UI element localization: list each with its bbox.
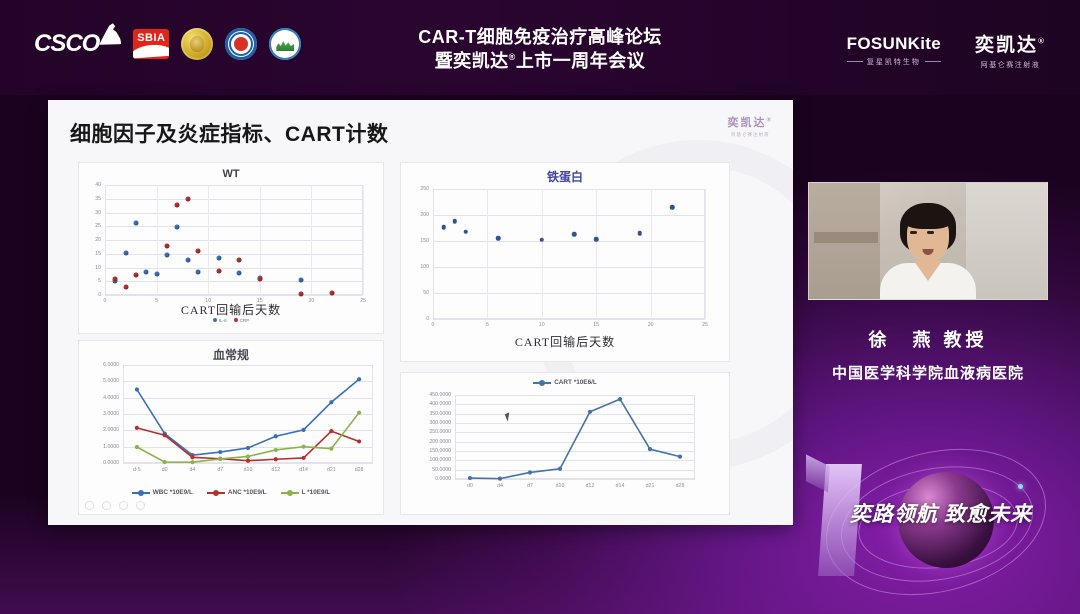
fosunkite-logo-main: FOSUNKite xyxy=(847,34,941,54)
x-category-label: d28 xyxy=(347,467,371,473)
scatter-point-crp xyxy=(123,285,128,290)
chart-wt-legend: IL-6CRP xyxy=(79,318,383,323)
line-marker xyxy=(301,456,305,460)
line-marker xyxy=(357,439,361,443)
line-marker xyxy=(678,455,682,459)
chart-ferritin-title: 铁蛋白 xyxy=(401,163,729,185)
line-marker xyxy=(468,476,472,480)
line-marker xyxy=(528,470,532,474)
sbia-logo: SBIA xyxy=(133,29,169,59)
y-tick-label: 0 xyxy=(79,292,101,298)
line-marker xyxy=(357,377,361,381)
y-tick-label: 300.0000 xyxy=(401,420,451,426)
y-tick-label: 100 xyxy=(401,264,429,270)
speaker-avatar xyxy=(880,199,976,299)
y-tick-label: 0 xyxy=(401,316,429,322)
x-category-label: d4 xyxy=(180,467,204,473)
zoom-tool-icon[interactable] xyxy=(136,501,145,510)
y-tick-label: 250 xyxy=(401,186,429,192)
scatter-point-il6 xyxy=(175,224,180,229)
green-circle-logo xyxy=(269,28,301,60)
line-marker xyxy=(329,429,333,433)
chart-cbc-plot xyxy=(123,365,373,463)
slide-watermark-main-text: 奕凯达 xyxy=(728,117,767,129)
scatter-point-ferritin xyxy=(496,236,501,241)
legend-line-icon xyxy=(533,382,551,384)
slide-watermark-sub: 阿基仑赛注射液 xyxy=(728,132,773,138)
chart-cbc-title: 血常规 xyxy=(79,341,383,363)
x-category-label: d14 xyxy=(292,467,316,473)
x-category-label: d21 xyxy=(319,467,343,473)
y-tick-label: 1.0000 xyxy=(79,444,119,450)
chart-cbc-panel[interactable]: 血常规 0.00001.00002.00003.00004.00005.0000… xyxy=(78,340,384,515)
settings-tool-icon[interactable] xyxy=(119,501,128,510)
legend-item: IL-6 xyxy=(213,318,227,323)
line-marker xyxy=(301,445,305,449)
x-category-label: d14 xyxy=(608,483,632,489)
scatter-point-crp xyxy=(237,258,242,263)
x-category-label: d12 xyxy=(578,483,602,489)
line-marker xyxy=(246,459,250,463)
line-marker xyxy=(218,450,222,454)
line-marker xyxy=(163,433,167,437)
x-category-label: d0 xyxy=(153,467,177,473)
line-marker xyxy=(274,448,278,452)
scatter-point-ferritin xyxy=(572,232,577,237)
line-marker xyxy=(498,477,502,481)
x-category-label: d12 xyxy=(264,467,288,473)
sponsor-logo-row: CSCO SBIA xyxy=(34,28,301,60)
chart-wt-panel[interactable]: WT 0510152025303540 0510152025 CART回输后天数… xyxy=(78,162,384,334)
x-category-label: d7 xyxy=(518,483,542,489)
scatter-point-ferritin xyxy=(453,219,458,224)
line-marker xyxy=(558,467,562,471)
chart-cbc-legend: WBC *10E9/LANC *10E9/LL *10E9/L xyxy=(79,489,383,496)
scatter-point-crp xyxy=(185,196,190,201)
y-tick-label: 25 xyxy=(79,223,101,229)
x-category-label: d0 xyxy=(458,483,482,489)
scatter-point-crp xyxy=(330,291,335,296)
legend-item: CRP xyxy=(234,318,250,323)
legend-marker-icon xyxy=(234,318,238,322)
legend-line-icon xyxy=(281,492,299,494)
y-tick-label: 0.0000 xyxy=(401,476,451,482)
video-background-right xyxy=(966,183,1047,299)
sbia-logo-text: SBIA xyxy=(133,32,169,44)
blue-circle-logo xyxy=(225,28,257,60)
line-marker xyxy=(135,426,139,430)
slide-watermark-main: 奕凯达® xyxy=(728,114,773,130)
chart-wt-xlabel: CART回输后天数 xyxy=(79,301,383,318)
speaker-organization: 中国医学科学院血液病医院 xyxy=(808,362,1048,383)
line-series xyxy=(137,379,359,455)
y-tick-label: 200.0000 xyxy=(401,439,451,445)
legend-item: CART *10E6/L xyxy=(533,379,597,386)
line-marker xyxy=(274,457,278,461)
y-tick-label: 400.0000 xyxy=(401,401,451,407)
slide-annotation-toolbar[interactable] xyxy=(85,501,145,510)
line-marker xyxy=(648,447,652,451)
y-tick-label: 150.0000 xyxy=(401,448,451,454)
x-tick-label: 10 xyxy=(537,322,547,328)
x-tick-label: 0 xyxy=(428,322,438,328)
y-tick-label: 30 xyxy=(79,210,101,216)
slide-canvas: 细胞因子及炎症指标、CART计数 奕凯达® 阿基仑赛注射液 WT 0510152… xyxy=(48,100,793,525)
slide-watermark-logo: 奕凯达® 阿基仑赛注射液 xyxy=(728,114,773,138)
line-marker xyxy=(190,460,194,464)
scatter-point-il6 xyxy=(133,220,138,225)
csco-logo: CSCO xyxy=(34,30,121,58)
scatter-point-il6 xyxy=(164,252,169,257)
line-marker xyxy=(190,455,194,459)
x-category-label: d-5 xyxy=(125,467,149,473)
event-title-line2: 暨奕凯达®上市一周年会议 xyxy=(330,49,750,73)
scatter-point-crp xyxy=(164,244,169,249)
legend-line-icon xyxy=(132,492,150,494)
speaker-name: 徐 燕 教授 xyxy=(808,326,1048,352)
event-title-line2-a: 暨奕凯达 xyxy=(435,51,509,71)
scatter-point-il6 xyxy=(216,255,221,260)
y-tick-label: 450.0000 xyxy=(401,392,451,398)
y-tick-label: 3.0000 xyxy=(79,411,119,417)
chart-cart-legend: CART *10E6/L xyxy=(401,379,729,386)
scatter-point-ferritin xyxy=(670,205,675,210)
legend-marker-icon xyxy=(213,318,217,322)
scatter-point-il6 xyxy=(185,258,190,263)
pen-tool-icon[interactable] xyxy=(85,501,94,510)
event-title-line2-b: 上市一周年会议 xyxy=(516,51,646,71)
line-marker xyxy=(618,397,622,401)
scatter-point-crp xyxy=(113,277,118,282)
x-tick-label: 25 xyxy=(700,322,710,328)
y-tick-label: 200 xyxy=(401,212,429,218)
scatter-point-il6 xyxy=(299,278,304,283)
fosunkite-logo: FOSUNKite 复星凯特生物 xyxy=(847,34,941,67)
y-tick-label: 6.0000 xyxy=(79,362,119,368)
scatter-point-ferritin xyxy=(594,237,599,242)
yikaida-registered-icon: ® xyxy=(1038,37,1046,46)
avatar-fringe xyxy=(903,209,953,229)
line-marker xyxy=(329,400,333,404)
y-tick-label: 4.0000 xyxy=(79,395,119,401)
chart-wt-title: WT xyxy=(79,163,383,180)
speaker-video-feed[interactable] xyxy=(808,182,1048,300)
legend-line-icon xyxy=(207,492,225,494)
scatter-point-crp xyxy=(175,203,180,208)
line-marker xyxy=(274,434,278,438)
y-tick-label: 50 xyxy=(401,290,429,296)
scatter-point-crp xyxy=(216,269,221,274)
chart-wt-plot xyxy=(105,185,363,295)
scatter-point-crp xyxy=(257,277,262,282)
legend-item: L *10E9/L xyxy=(281,489,331,496)
anniversary-artwork: 奕路领航 致愈未来 xyxy=(806,446,1066,606)
y-tick-label: 350.0000 xyxy=(401,411,451,417)
avatar-eye-left xyxy=(910,231,917,234)
scatter-point-crp xyxy=(133,272,138,277)
scatter-point-crp xyxy=(299,291,304,296)
event-title: CAR-T细胞免疫治疗高峰论坛 暨奕凯达®上市一周年会议 xyxy=(330,25,750,74)
y-tick-label: 20 xyxy=(79,237,101,243)
y-tick-label: 2.0000 xyxy=(79,427,119,433)
chart-ferritin-plot xyxy=(433,189,705,319)
scatter-point-crp xyxy=(195,248,200,253)
y-tick-label: 35 xyxy=(79,196,101,202)
app-stage: CSCO SBIA CAR-T细胞免疫治疗高峰论坛 暨奕凯达®上市一周年会议 F… xyxy=(0,0,1080,614)
y-tick-label: 150 xyxy=(401,238,429,244)
scatter-point-il6 xyxy=(144,270,149,275)
presentation-slide[interactable]: 细胞因子及炎症指标、CART计数 奕凯达® 阿基仑赛注射液 WT 0510152… xyxy=(48,100,793,525)
yikaida-logo-sub: 阿基仑赛注射液 xyxy=(975,60,1046,70)
line-marker xyxy=(218,457,222,461)
x-tick-label: 20 xyxy=(646,322,656,328)
legend-item: WBC *10E9/L xyxy=(132,489,193,496)
chart-ferritin-xlabel: CART回输后天数 xyxy=(401,333,729,350)
line-marker xyxy=(163,460,167,464)
y-tick-label: 5 xyxy=(79,278,101,284)
avatar-eye-right xyxy=(927,231,934,234)
chart-ferritin-panel[interactable]: 铁蛋白 050100150200250 0510152025 CART回输后天数 xyxy=(400,162,730,362)
y-tick-label: 250.0000 xyxy=(401,429,451,435)
y-tick-label: 10 xyxy=(79,265,101,271)
x-category-label: d7 xyxy=(208,467,232,473)
x-category-label: d21 xyxy=(638,483,662,489)
line-marker xyxy=(135,445,139,449)
eraser-tool-icon[interactable] xyxy=(102,501,111,510)
y-tick-label: 40 xyxy=(79,182,101,188)
scatter-point-il6 xyxy=(237,271,242,276)
gold-medal-logo xyxy=(181,28,213,60)
brand-logo-row: FOSUNKite 复星凯特生物 奕凯达® 阿基仑赛注射液 xyxy=(847,30,1046,70)
y-tick-label: 100.0000 xyxy=(401,457,451,463)
line-marker xyxy=(246,454,250,458)
slide-watermark-registered-icon: ® xyxy=(767,117,773,123)
header-bar: CSCO SBIA CAR-T细胞免疫治疗高峰论坛 暨奕凯达®上市一周年会议 F… xyxy=(0,0,1080,95)
line-marker xyxy=(246,446,250,450)
line-marker xyxy=(588,410,592,414)
scatter-point-ferritin xyxy=(442,225,447,230)
yikaida-logo-main-text: 奕凯达 xyxy=(975,35,1038,56)
scatter-point-il6 xyxy=(123,251,128,256)
video-background-shelf xyxy=(814,232,878,244)
fosunkite-logo-sub: 复星凯特生物 xyxy=(847,57,941,67)
scatter-point-il6 xyxy=(154,271,159,276)
line-series-group xyxy=(123,365,373,463)
scatter-point-il6 xyxy=(195,269,200,274)
line-series xyxy=(470,399,680,479)
x-tick-label: 15 xyxy=(591,322,601,328)
scatter-point-ferritin xyxy=(463,229,468,234)
event-title-line1: CAR-T细胞免疫治疗高峰论坛 xyxy=(330,25,750,49)
scatter-point-ferritin xyxy=(540,238,545,243)
line-marker xyxy=(301,428,305,432)
x-category-label: d10 xyxy=(236,467,260,473)
x-category-label: d10 xyxy=(548,483,572,489)
x-category-label: d4 xyxy=(488,483,512,489)
chart-cart-plot xyxy=(455,395,695,479)
yikaida-logo: 奕凯达® 阿基仑赛注射液 xyxy=(975,30,1046,70)
line-marker xyxy=(135,387,139,391)
artwork-spark-icon xyxy=(1018,484,1023,489)
speaker-panel: 徐 燕 教授 中国医学科学院血液病医院 xyxy=(808,182,1048,383)
legend-item: ANC *10E9/L xyxy=(207,489,267,496)
y-tick-label: 15 xyxy=(79,251,101,257)
fosunkite-logo-sub-text: 复星凯特生物 xyxy=(867,57,921,67)
x-tick-label: 5 xyxy=(482,322,492,328)
y-tick-label: 50.0000 xyxy=(401,467,451,473)
line-marker xyxy=(329,447,333,451)
yikaida-logo-main: 奕凯达® xyxy=(975,30,1046,57)
artwork-slogan: 奕路领航 致愈未来 xyxy=(828,498,1054,528)
scatter-point-ferritin xyxy=(637,231,642,236)
chart-cart-panel[interactable]: CART *10E6/L 0.000050.0000100.0000150.00… xyxy=(400,372,730,515)
registered-mark-icon: ® xyxy=(509,52,516,62)
line-series-group xyxy=(455,395,695,479)
slide-title: 细胞因子及炎症指标、CART计数 xyxy=(70,118,388,148)
y-tick-label: 0.0000 xyxy=(79,460,119,466)
line-marker xyxy=(357,411,361,415)
y-tick-label: 5.0000 xyxy=(79,378,119,384)
x-category-label: d28 xyxy=(668,483,692,489)
